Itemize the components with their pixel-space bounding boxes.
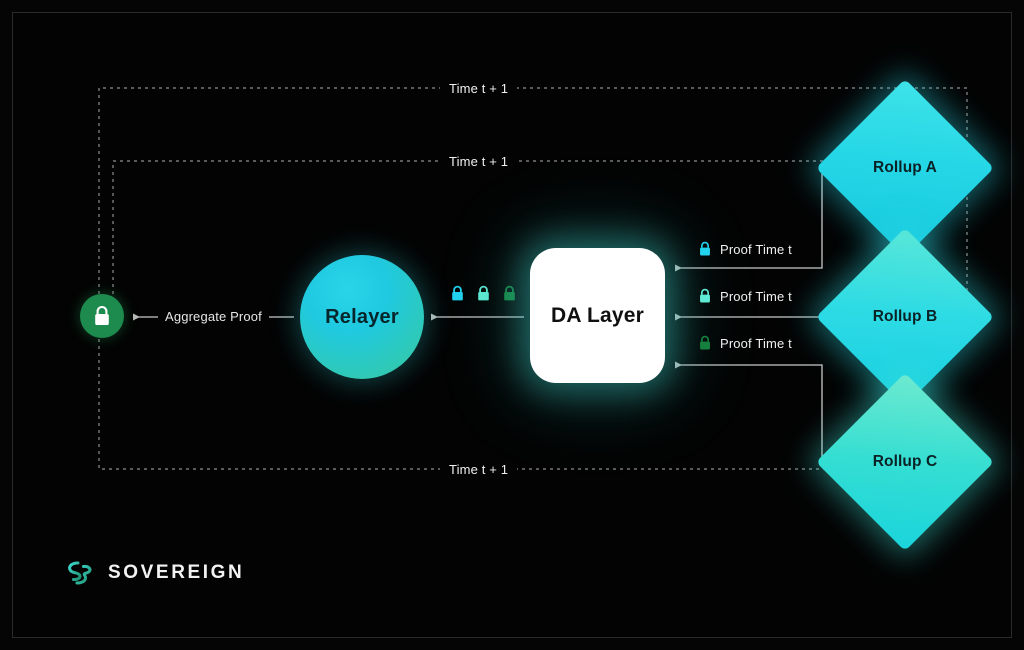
- node-relayer[interactable]: Relayer: [300, 255, 424, 379]
- diagram-stage: Relayer DA Layer Rollup A Rollup B Rollu…: [0, 0, 1024, 650]
- proof-locks-trio: [450, 285, 517, 302]
- node-rollup-c[interactable]: Rollup C: [842, 399, 968, 525]
- lock-icon-proof-c: [698, 335, 712, 351]
- proof-label-text-b: Proof Time t: [720, 289, 792, 304]
- lock-icon-proof-a: [698, 241, 712, 257]
- brand-name: SOVEREIGN: [108, 562, 244, 584]
- time-label-bottom: Time t + 1: [440, 462, 517, 477]
- lock-icon-rollup-b: [476, 285, 491, 302]
- node-rollup-a[interactable]: Rollup A: [842, 105, 968, 231]
- lock-icon: [92, 305, 112, 327]
- lock-icon-rollup-a: [450, 285, 465, 302]
- time-label-middle: Time t + 1: [440, 154, 517, 169]
- rollup-c-label: Rollup C: [842, 399, 968, 525]
- da-layer-label: DA Layer: [551, 304, 644, 328]
- relayer-label: Relayer: [325, 306, 399, 329]
- rollup-b-label: Rollup B: [842, 254, 968, 380]
- aggregate-proof-label: Aggregate Proof: [158, 309, 269, 324]
- brand-logo: SOVEREIGN: [66, 560, 244, 586]
- lock-icon-proof-b: [698, 288, 712, 304]
- time-label-top: Time t + 1: [440, 81, 517, 96]
- node-rollup-b[interactable]: Rollup B: [842, 254, 968, 380]
- lock-icon-rollup-c: [502, 285, 517, 302]
- rollup-a-label: Rollup A: [842, 105, 968, 231]
- aggregate-proof-lock-badge[interactable]: [80, 294, 124, 338]
- proof-label-text-a: Proof Time t: [720, 242, 792, 257]
- proof-line-rollup-c: [676, 365, 822, 458]
- proof-label-rollup-c: Proof Time t: [698, 335, 792, 351]
- proof-label-rollup-b: Proof Time t: [698, 288, 792, 304]
- proof-label-rollup-a: Proof Time t: [698, 241, 792, 257]
- sovereign-s-mark-icon: [66, 560, 96, 586]
- node-da-layer[interactable]: DA Layer: [530, 248, 665, 383]
- proof-label-text-c: Proof Time t: [720, 336, 792, 351]
